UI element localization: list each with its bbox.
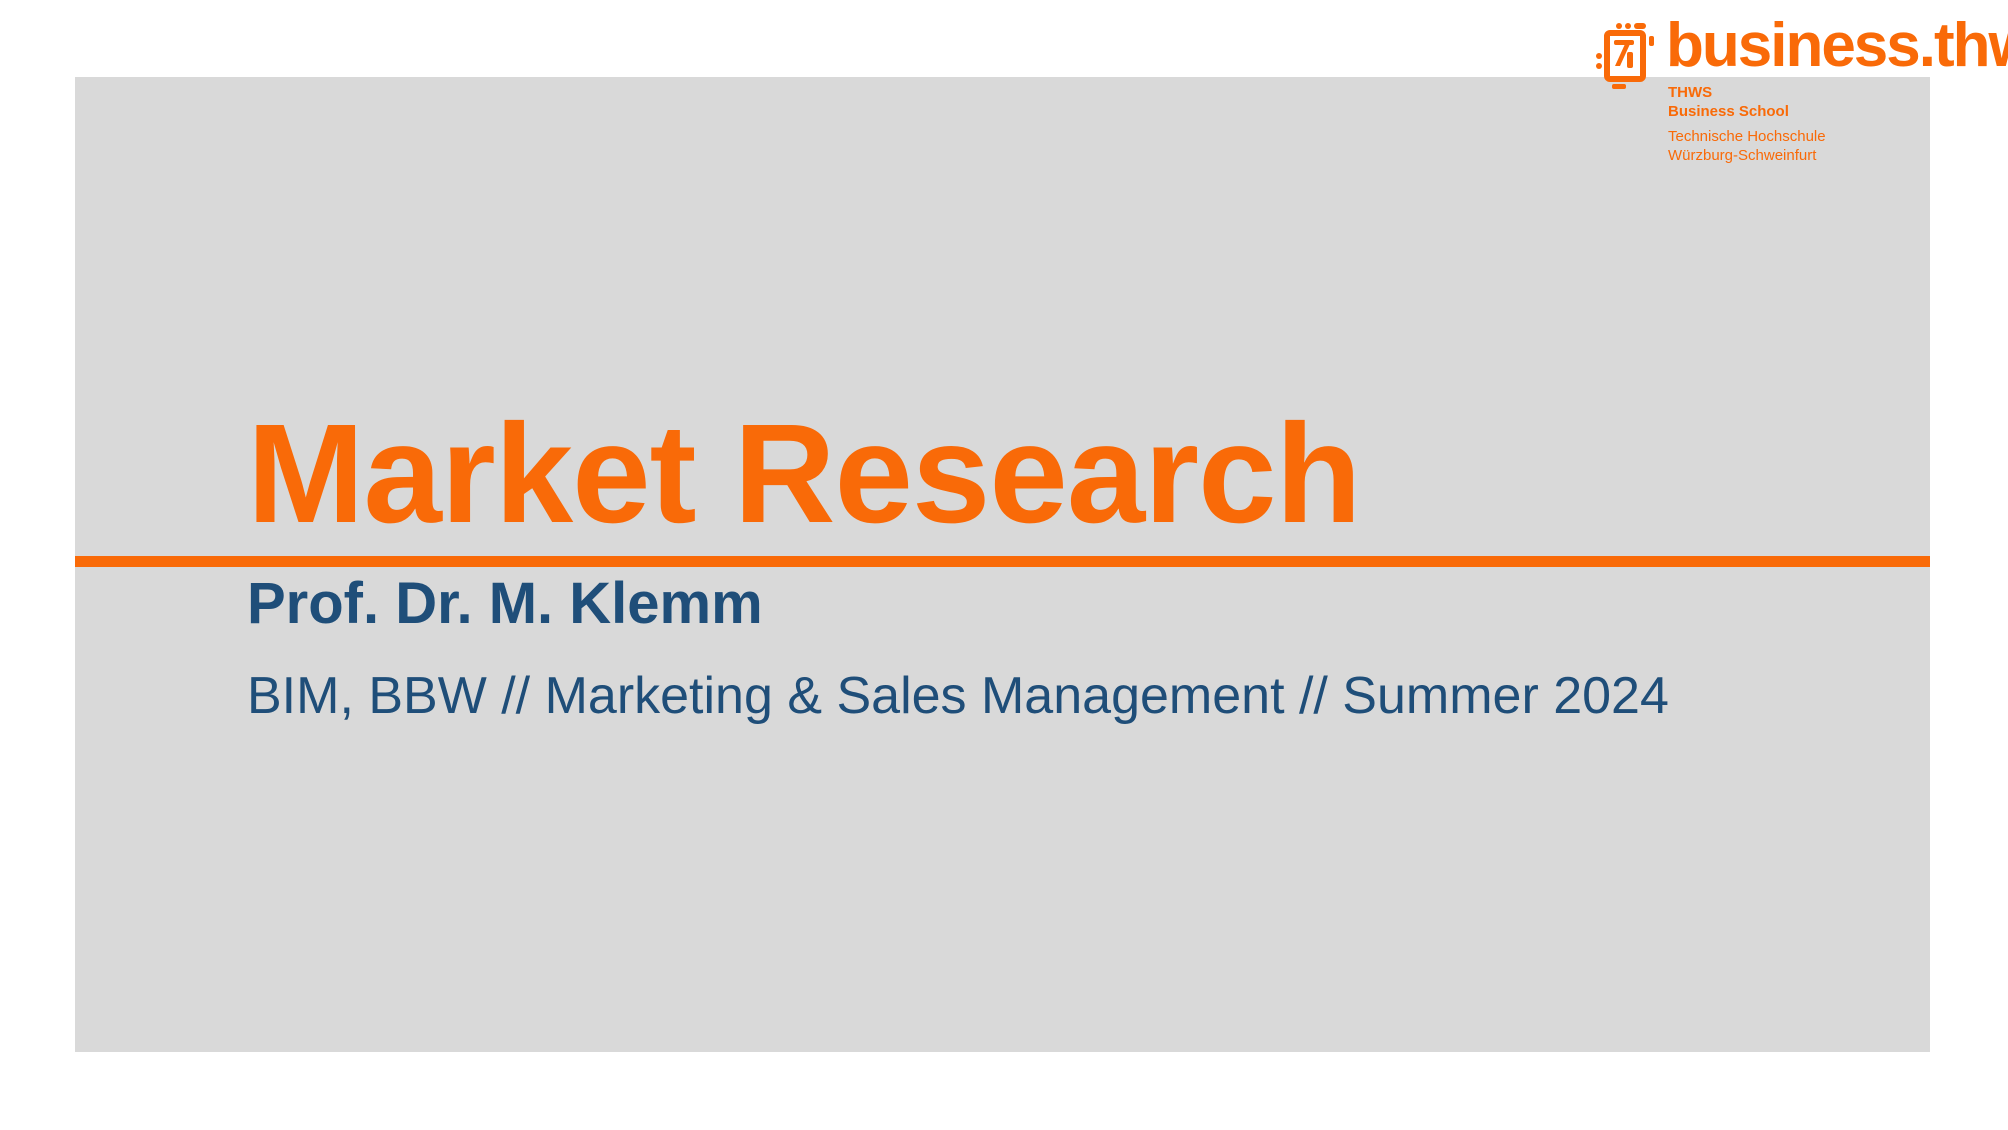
- slide-canvas: business.thws THWS Business School Techn…: [0, 0, 2008, 1130]
- slide-title: Market Research: [247, 403, 1361, 544]
- brand-logo: business.thws THWS Business School Techn…: [1596, 17, 2006, 137]
- accent-divider-rule: [75, 556, 1930, 567]
- thws-bracket-mark-icon: [1596, 22, 1658, 90]
- logo-subtitle-wuerzburg: Würzburg-Schweinfurt: [1668, 146, 1826, 165]
- logo-subtitle-thws: THWS: [1668, 83, 1789, 102]
- logo-subtitle-hochschule: Technische Hochschule: [1668, 127, 1826, 146]
- logo-subtitle-business-school: Business School: [1668, 102, 1789, 121]
- logo-subtitle-regular: Technische Hochschule Würzburg-Schweinfu…: [1668, 127, 1826, 165]
- logo-wordmark: business.thws: [1666, 15, 2008, 77]
- logo-subtitle-bold: THWS Business School: [1668, 83, 1789, 121]
- slide-author: Prof. Dr. M. Klemm: [247, 572, 763, 636]
- slide-course-line: BIM, BBW // Marketing & Sales Management…: [247, 668, 1669, 725]
